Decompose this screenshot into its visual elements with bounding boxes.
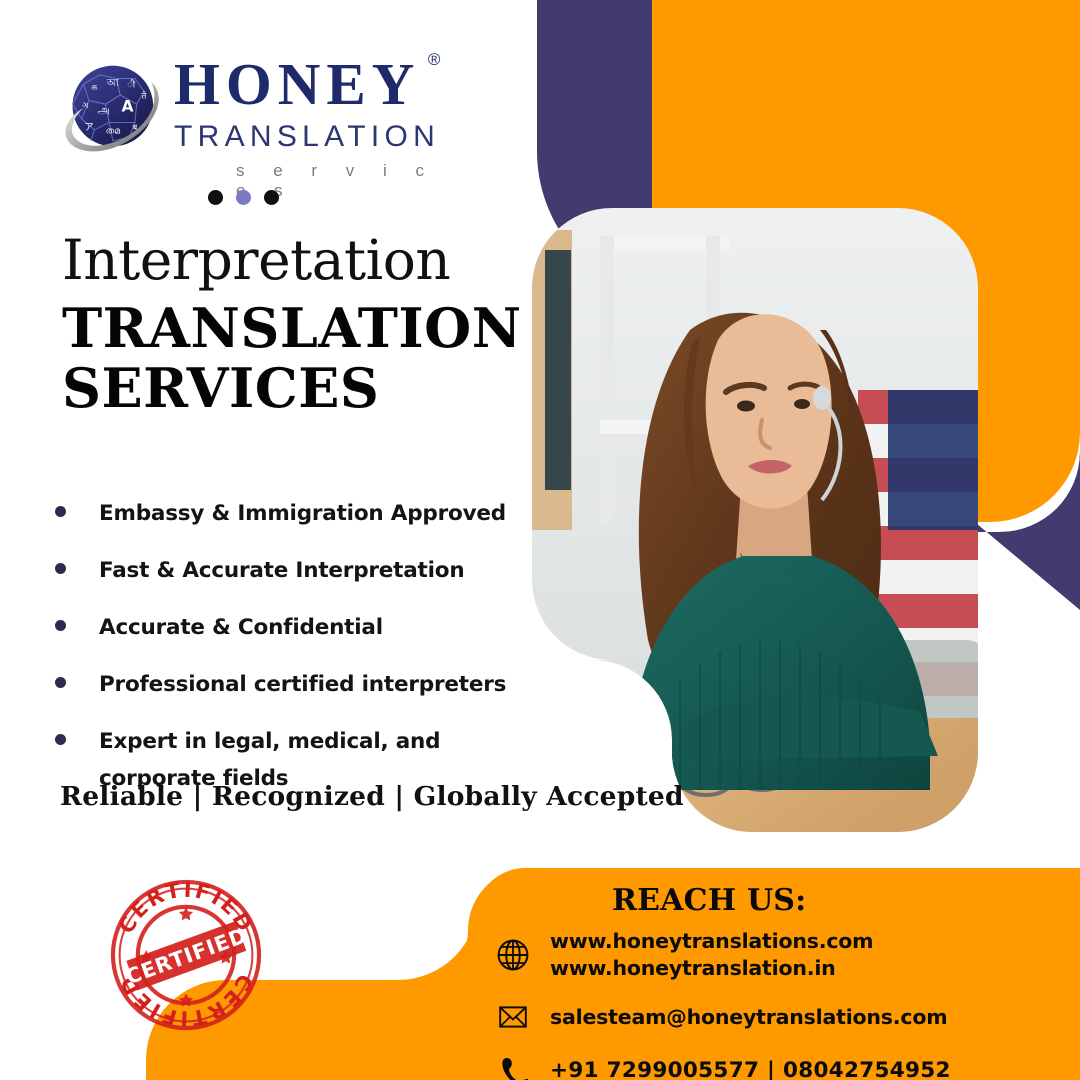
feature-label: Accurate & Confidential: [99, 610, 383, 646]
website-links[interactable]: www.honeytranslations.com www.honeytrans…: [550, 928, 873, 982]
contact-info: www.honeytranslations.com www.honeytrans…: [492, 928, 1052, 1080]
brand-logo[interactable]: க আ ी ते ગ அ A ア തമ ब HONEY ® TR: [56, 48, 466, 201]
svg-text:ア: ア: [84, 122, 93, 133]
bullet-dot-icon: [55, 677, 66, 688]
certified-stamp-icon: CERTIFIED CERTIFIED CERTIFIED: [103, 872, 269, 1038]
tagline: Reliable | Recognized | Globally Accepte…: [60, 781, 684, 812]
feature-label: Professional certified interpreters: [99, 667, 506, 703]
svg-text:அ: அ: [98, 103, 110, 116]
svg-text:തമ: തമ: [106, 126, 121, 137]
website-line-1[interactable]: www.honeytranslations.com: [550, 929, 873, 953]
registered-mark-icon: ®: [428, 52, 441, 68]
divider-dots: [208, 190, 279, 205]
svg-text:আ: আ: [106, 78, 119, 89]
contact-row-phone[interactable]: +91 7299005577 | 08042754952: [492, 1050, 1052, 1080]
list-item: Professional certified interpreters: [55, 667, 535, 703]
bullet-dot-icon: [55, 506, 66, 517]
logo-name: HONEY: [174, 51, 420, 117]
feature-label: Fast & Accurate Interpretation: [99, 553, 464, 589]
list-item: Accurate & Confidential: [55, 610, 535, 646]
dot-3: [264, 190, 279, 205]
headline-bold-1: TRANSLATION: [62, 296, 532, 362]
phone-icon: [492, 1050, 534, 1080]
logo-subline: TRANSLATION: [174, 120, 466, 154]
page-title: Interpretation TRANSLATION SERVICES: [62, 232, 532, 422]
svg-text:ते: ते: [142, 91, 147, 101]
reach-us-heading: REACH US:: [612, 883, 806, 918]
list-item: Fast & Accurate Interpretation: [55, 553, 535, 589]
feature-list: Embassy & Immigration Approved Fast & Ac…: [55, 496, 535, 818]
svg-text:க: க: [91, 82, 97, 93]
website-line-2[interactable]: www.honeytranslation.in: [550, 956, 836, 980]
globe-icon: க আ ी ते ગ அ A ア തമ ब: [56, 50, 166, 162]
bullet-dot-icon: [55, 734, 66, 745]
svg-text:ी: ी: [127, 79, 135, 91]
envelope-icon: [492, 996, 534, 1038]
dot-2: [236, 190, 251, 205]
contact-row-email[interactable]: salesteam@honeytranslations.com: [492, 996, 1052, 1038]
contact-row-website[interactable]: www.honeytranslations.com www.honeytrans…: [492, 928, 1052, 982]
bullet-dot-icon: [55, 620, 66, 631]
feature-label: Embassy & Immigration Approved: [99, 496, 506, 532]
svg-text:ગ: ગ: [82, 100, 89, 111]
globe-icon: [492, 934, 534, 976]
dot-1: [208, 190, 223, 205]
bullet-dot-icon: [55, 563, 66, 574]
list-item: Embassy & Immigration Approved: [55, 496, 535, 532]
headline-script: Interpretation: [62, 232, 532, 290]
logo-wordmark: HONEY ® TRANSLATION s e r v i c e s: [174, 48, 466, 201]
svg-text:A: A: [121, 98, 133, 116]
headline-bold-2: SERVICES: [62, 356, 532, 422]
interpreter-photo: [532, 208, 998, 832]
phone-numbers[interactable]: +91 7299005577 | 08042754952: [550, 1057, 951, 1080]
email-address[interactable]: salesteam@honeytranslations.com: [550, 1004, 947, 1031]
poster-canvas: க আ ी ते ગ அ A ア തമ ब HONEY ® TR: [0, 0, 1080, 1080]
